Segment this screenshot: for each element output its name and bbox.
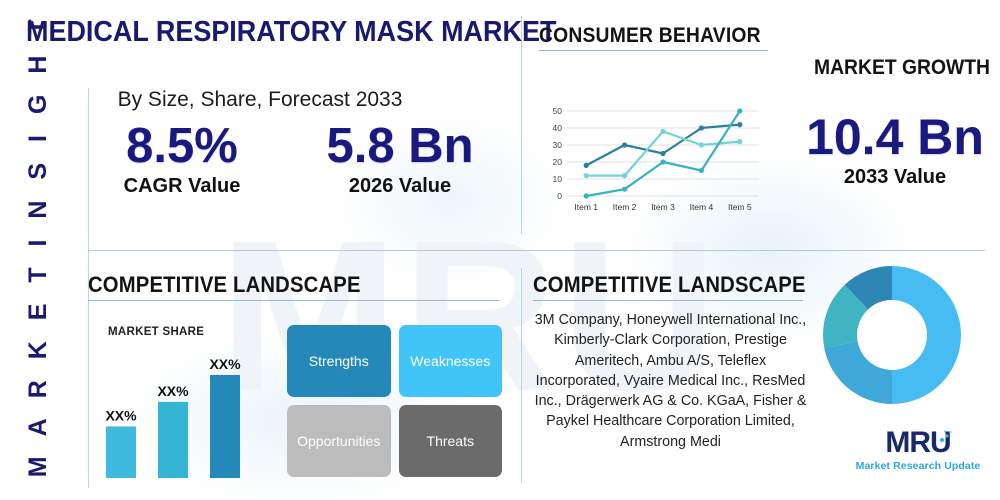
logo-mark: MRU [885, 428, 950, 458]
kpi-cagr-value: 8.5% [82, 122, 282, 171]
svg-text:Item 3: Item 3 [651, 202, 675, 212]
competitive-landscape-left-underline [88, 300, 500, 301]
line-chart-svg: 01020304050Item 1Item 2Item 3Item 4Item … [537, 105, 767, 220]
swot-cell-threats[interactable]: Threats [399, 405, 503, 477]
page-title: MEDICAL RESPIRATORY MASK MARKET [26, 16, 472, 49]
svg-text:50: 50 [553, 106, 563, 116]
bottom-vertical-divider [521, 268, 522, 483]
page-subtitle: By Size, Share, Forecast 2033 [60, 88, 460, 112]
svg-text:Item 2: Item 2 [613, 202, 637, 212]
svg-text:30: 30 [553, 140, 563, 150]
donut-chart-svg [823, 266, 961, 404]
competitive-donut-chart [823, 266, 961, 404]
infographic-root: MRU M A R K E T I N S I G H T S MEDICAL … [0, 0, 1000, 500]
svg-text:XX%: XX% [105, 407, 137, 423]
logo-tagline: Market Research Update [848, 460, 988, 472]
swot-label-strengths: Strengths [309, 353, 369, 369]
swot-label-opportunities: Opportunities [297, 433, 380, 449]
section-heading-consumer-behavior: CONSUMER BEHAVIOR [539, 24, 761, 48]
kpi-2033-caption: 2033 Value [790, 166, 1000, 189]
market-share-title: MARKET SHARE [108, 326, 204, 338]
svg-text:XX%: XX% [157, 383, 189, 399]
svg-text:20: 20 [553, 157, 563, 167]
svg-text:Item 1: Item 1 [574, 202, 598, 212]
logo-bubbles-icon [938, 421, 954, 437]
section-heading-competitive-landscape-left: COMPETITIVE LANDSCAPE [88, 272, 361, 298]
kpi-cagr-caption: CAGR Value [82, 175, 282, 198]
swot-cell-opportunities[interactable]: Opportunities [287, 405, 391, 477]
svg-text:0: 0 [557, 191, 562, 201]
kpi-2026-value: 5.8 Bn 2026 Value [300, 122, 500, 198]
swot-cell-weaknesses[interactable]: Weaknesses [399, 325, 503, 397]
svg-text:10: 10 [553, 174, 563, 184]
kpi-2026-value-number: 5.8 Bn [300, 122, 500, 171]
kpi-cagr: 8.5% CAGR Value [82, 122, 282, 198]
svg-text:Item 5: Item 5 [728, 202, 752, 212]
swot-label-threats: Threats [427, 433, 474, 449]
company-list: 3M Company, Honeywell International Inc.… [533, 310, 808, 452]
swot-grid: Strengths Weaknesses Opportunities Threa… [287, 325, 502, 477]
section-heading-competitive-landscape-right: COMPETITIVE LANDSCAPE [533, 272, 806, 298]
market-share-bar-chart: XX%XX%XX% [100, 340, 270, 478]
svg-text:Item 4: Item 4 [690, 202, 714, 212]
market-insights-vertical-label: M A R K E T I N S I G H T S [15, 16, 61, 436]
kpi-2026-caption: 2026 Value [300, 175, 500, 198]
consumer-behavior-underline [539, 50, 768, 51]
swot-label-weaknesses: Weaknesses [410, 353, 490, 369]
top-vertical-divider [521, 16, 522, 234]
horizontal-divider [88, 250, 985, 251]
kpi-2033-value: 10.4 Bn 2033 Value [790, 112, 1000, 189]
swot-cell-strengths[interactable]: Strengths [287, 325, 391, 397]
section-heading-market-growth: MARKET GROWTH [788, 56, 990, 80]
consumer-behavior-line-chart: 01020304050Item 1Item 2Item 3Item 4Item … [537, 105, 767, 220]
competitive-landscape-right-underline [533, 300, 803, 301]
bar-chart-svg: XX%XX%XX% [100, 340, 270, 478]
mru-logo: MRU Market Research Update [848, 428, 988, 472]
svg-text:XX%: XX% [209, 356, 241, 372]
svg-text:40: 40 [553, 123, 563, 133]
kpi-2033-value-number: 10.4 Bn [790, 112, 1000, 162]
